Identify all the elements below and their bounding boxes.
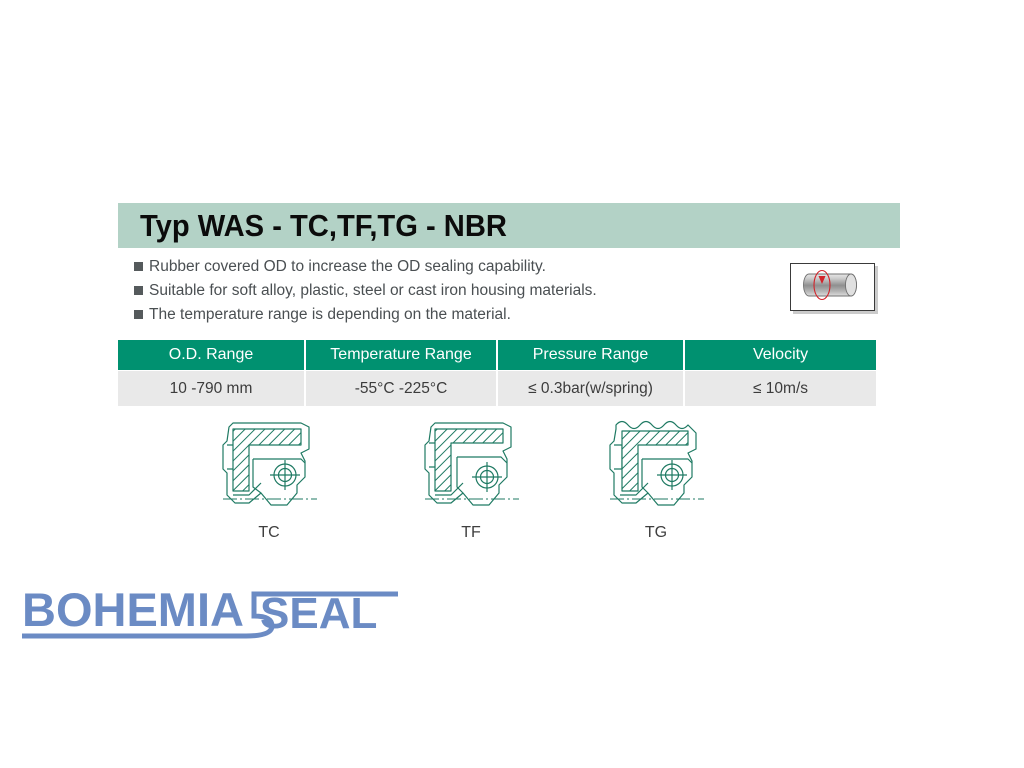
seal-label: TF [396,524,546,542]
list-item: The temperature range is depending on th… [134,304,774,325]
feature-text: The temperature range is depending on th… [149,304,511,325]
square-bullet-icon [134,286,143,295]
spec-table: O.D. Range Temperature Range Pressure Ra… [118,340,876,406]
datasheet-page: Typ WAS - TC,TF,TG - NBR Rubber covered … [0,0,1024,768]
title-band: Typ WAS - TC,TF,TG - NBR [118,203,900,248]
table-row: 10 -790 mm -55°C -225°C ≤ 0.3bar(w/sprin… [118,371,876,406]
table-cell: ≤ 0.3bar(w/spring) [498,371,683,406]
list-item: Rubber covered OD to increase the OD sea… [134,256,774,277]
company-logo: BOHEMIA SEAL [14,578,414,648]
seal-diagram-tg: TG [581,415,731,542]
seal-profile-tf-icon [411,415,531,520]
list-item: Suitable for soft alloy, plastic, steel … [134,280,774,301]
seal-diagram-tc: TC [194,415,344,542]
square-bullet-icon [134,262,143,271]
feature-list: Rubber covered OD to increase the OD sea… [134,256,774,328]
feature-text: Rubber covered OD to increase the OD sea… [149,256,546,277]
square-bullet-icon [134,310,143,319]
seal-profile-tc-icon [209,415,329,520]
seal-diagram-tf: TF [396,415,546,542]
seal-profile-tg-icon [596,415,716,520]
seal-label: TG [581,524,731,542]
table-header-cell: Pressure Range [498,340,683,370]
table-cell: ≤ 10m/s [685,371,876,406]
table-header-row: O.D. Range Temperature Range Pressure Ra… [118,340,876,370]
table-cell: -55°C -225°C [306,371,496,406]
page-title: Typ WAS - TC,TF,TG - NBR [140,208,507,244]
logo-primary-text: BOHEMIA [22,583,244,636]
seal-diagram-group: TC [0,415,1024,555]
seal-label: TC [194,524,344,542]
table-header-cell: O.D. Range [118,340,304,370]
table-cell: 10 -790 mm [118,371,304,406]
rotating-shaft-icon [790,263,875,311]
feature-text: Suitable for soft alloy, plastic, steel … [149,280,597,301]
table-header-cell: Velocity [685,340,876,370]
table-header-cell: Temperature Range [306,340,496,370]
